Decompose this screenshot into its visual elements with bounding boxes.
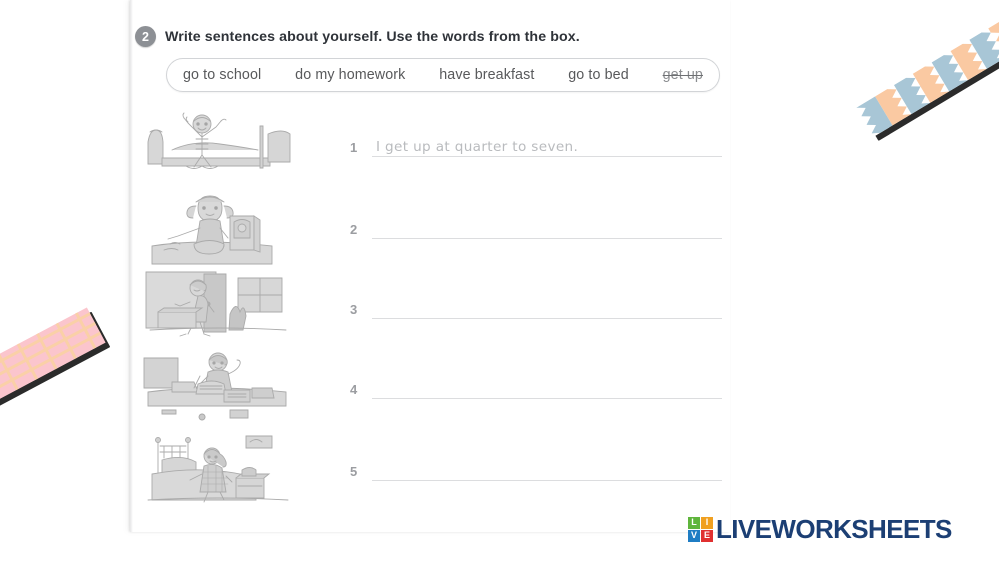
word-chip-go-to-bed[interactable]: go to bed bbox=[568, 67, 629, 83]
line-number: 5 bbox=[350, 464, 372, 478]
instruction-text: Write sentences about yourself. Use the … bbox=[165, 29, 580, 45]
answer-text-1: I get up at quarter to seven. bbox=[376, 139, 578, 155]
word-chip-do-my-homework[interactable]: do my homework bbox=[295, 67, 405, 83]
liveworksheets-mark-icon: L I V E bbox=[688, 517, 713, 542]
sketch-child-homework-icon bbox=[142, 348, 294, 428]
answer-line-2[interactable] bbox=[372, 222, 722, 239]
decorative-tape-bottom-left bbox=[0, 307, 106, 404]
answer-area: 4 bbox=[294, 348, 722, 399]
decorative-tape-top-right bbox=[856, 21, 999, 137]
illustration-having-breakfast bbox=[142, 188, 294, 268]
logo-letter-i: I bbox=[701, 517, 713, 529]
word-chip-have-breakfast[interactable]: have breakfast bbox=[439, 67, 534, 83]
instruction-row: 2 Write sentences about yourself. Use th… bbox=[135, 26, 580, 47]
exercise-row: 1 I get up at quarter to seven. bbox=[142, 106, 722, 186]
logo-letter-v: V bbox=[688, 530, 700, 542]
answer-area: 2 bbox=[294, 188, 722, 239]
exercise-number-badge: 2 bbox=[135, 26, 156, 47]
exercise-row: 3 bbox=[142, 268, 722, 348]
logo-letter-l: L bbox=[688, 517, 700, 529]
exercise-row: 4 bbox=[142, 348, 722, 428]
sketch-child-breakfast-icon bbox=[142, 188, 294, 268]
worksheet-page: 2 Write sentences about yourself. Use th… bbox=[130, 0, 730, 532]
line-number: 4 bbox=[350, 382, 372, 396]
illustration-waking-up bbox=[142, 106, 294, 186]
liveworksheets-wordmark: LIVEWORKSHEETS bbox=[716, 516, 952, 542]
answer-line-5[interactable] bbox=[372, 464, 722, 481]
answer-line-4[interactable] bbox=[372, 382, 722, 399]
answer-line-1[interactable]: I get up at quarter to seven. bbox=[372, 140, 722, 157]
sketch-child-going-to-bed-icon bbox=[142, 430, 294, 510]
line-number: 2 bbox=[350, 222, 372, 236]
line-number: 1 bbox=[350, 140, 372, 154]
line-number: 3 bbox=[350, 302, 372, 316]
sketch-child-waking-up-icon bbox=[142, 106, 294, 186]
word-bank-box: go to school do my homework have breakfa… bbox=[166, 58, 720, 92]
liveworksheets-logo: L I V E LIVEWORKSHEETS bbox=[688, 516, 952, 542]
illustration-going-to-school bbox=[142, 268, 294, 348]
word-chip-go-to-school[interactable]: go to school bbox=[183, 67, 261, 83]
exercise-row: 2 bbox=[142, 188, 722, 268]
sketch-child-leaving-house-icon bbox=[142, 268, 294, 348]
logo-letter-e: E bbox=[701, 530, 713, 542]
word-chip-get-up[interactable]: get up bbox=[663, 67, 703, 83]
illustration-going-to-bed bbox=[142, 430, 294, 510]
exercise-row: 5 bbox=[142, 430, 722, 510]
answer-area: 5 bbox=[294, 430, 722, 481]
illustration-doing-homework bbox=[142, 348, 294, 428]
answer-area: 1 I get up at quarter to seven. bbox=[294, 106, 722, 157]
answer-line-3[interactable] bbox=[372, 302, 722, 319]
answer-area: 3 bbox=[294, 268, 722, 319]
